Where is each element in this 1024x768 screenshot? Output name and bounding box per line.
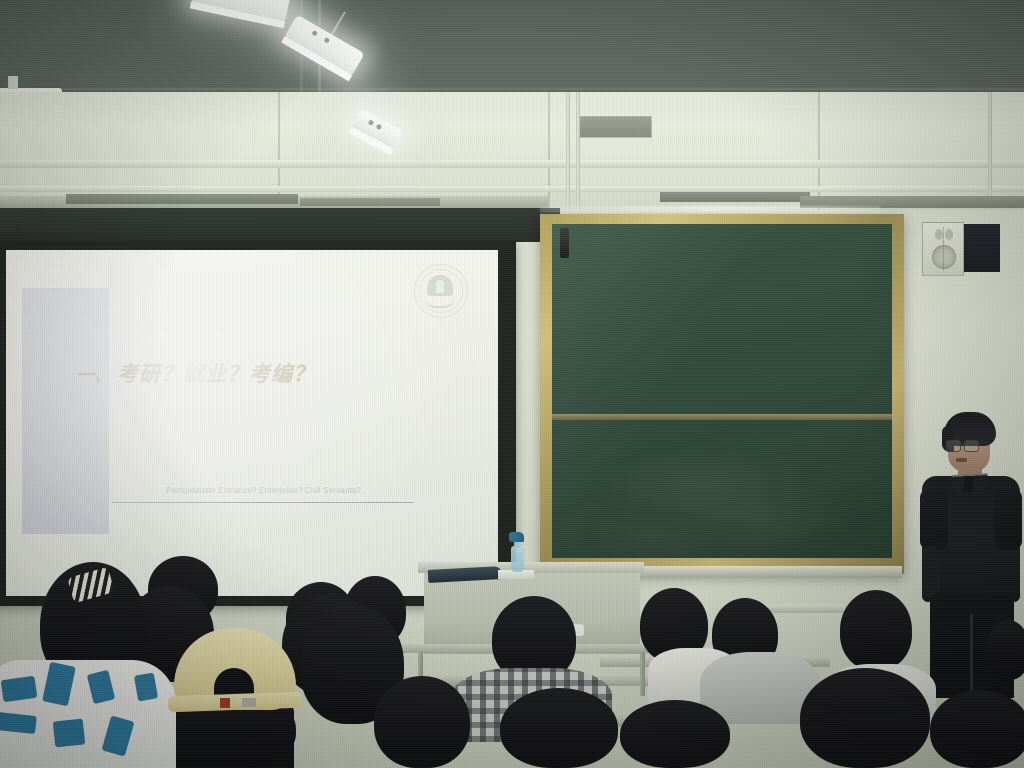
- student-head: [986, 620, 1024, 680]
- shirt-graphic: [0, 712, 37, 734]
- wall-pipe: [566, 92, 570, 210]
- wall-dark-panel: [962, 224, 1000, 272]
- student-with-backwards-cap: [168, 628, 306, 768]
- student-head: [800, 668, 930, 768]
- glasses-icon: [946, 440, 980, 450]
- slide-sidebar-bar: [22, 288, 109, 534]
- student-head: [930, 690, 1024, 768]
- slide-number-marker: 一、: [76, 365, 112, 385]
- hair: [620, 700, 730, 768]
- screen-valance: [0, 208, 560, 242]
- classroom-photo: 一、考研？就业？考编？ Postgraduate Entrance? Enter…: [0, 0, 1024, 768]
- green-chalkboard: [540, 214, 904, 574]
- speaker-woofer-icon: [932, 245, 956, 269]
- upper-wall-band: [0, 92, 1024, 210]
- student-head: [374, 676, 470, 768]
- cap-buckle: [242, 698, 256, 707]
- university-emblem-icon: [414, 264, 468, 318]
- chalkboard-sheen: [552, 224, 892, 558]
- screen-housing-lip: [300, 198, 440, 206]
- hair: [986, 620, 1024, 680]
- hair: [500, 688, 618, 768]
- hair: [800, 668, 930, 768]
- wall-rail: [0, 160, 1024, 168]
- wall-rail: [0, 186, 1024, 192]
- student-head: [500, 688, 618, 768]
- emblem-crest: [427, 275, 453, 296]
- wall-panel-seam: [818, 92, 820, 210]
- speaker-tweeter-icon: [945, 229, 953, 240]
- slide-divider: [112, 502, 414, 503]
- slide-subtitle: Postgraduate Entrance? Enterprise? Civil…: [166, 486, 361, 495]
- glasses-lens-left: [946, 440, 961, 452]
- shirt-graphic: [134, 672, 158, 701]
- shirt-graphic: [87, 670, 116, 704]
- wall-speaker: [922, 222, 964, 276]
- screen-housing-lip: [66, 194, 298, 204]
- speaker-tweeter-icon: [935, 229, 943, 240]
- ceiling-seam: [0, 88, 1024, 90]
- wall-panel-seam: [548, 92, 550, 210]
- hair: [840, 590, 912, 670]
- shirt-graphic: [1, 676, 38, 703]
- student-head: [620, 700, 730, 768]
- student-head: [840, 590, 912, 670]
- board-housing-lip: [660, 192, 810, 202]
- wall-vent: [578, 116, 652, 138]
- wall-pipe: [576, 92, 580, 210]
- projector-mount: [8, 76, 18, 89]
- shirt-graphic: [42, 662, 76, 707]
- hair: [374, 676, 470, 768]
- glasses-lens-right: [964, 440, 979, 452]
- student-patterned-shirt: [0, 660, 176, 768]
- chalkboard-surface: [552, 224, 892, 558]
- wall-pipe: [988, 92, 992, 210]
- shirt-graphic: [102, 715, 135, 756]
- board-light-strip: [540, 206, 880, 213]
- ceiling-slab: [0, 0, 1024, 92]
- polo-collar: [952, 473, 989, 495]
- slide-title-text: 考研？就业？考编？: [117, 363, 315, 386]
- cap-tag-red: [220, 698, 230, 708]
- speaker-seam: [943, 227, 944, 271]
- wall-panel-seam: [278, 92, 280, 210]
- lecturer-mouth: [956, 458, 967, 462]
- board-clip: [560, 228, 569, 258]
- slide-title: 一、考研？就业？考编？: [76, 358, 315, 388]
- shirt-graphic: [53, 719, 86, 748]
- hair: [176, 702, 294, 768]
- hair: [930, 690, 1024, 768]
